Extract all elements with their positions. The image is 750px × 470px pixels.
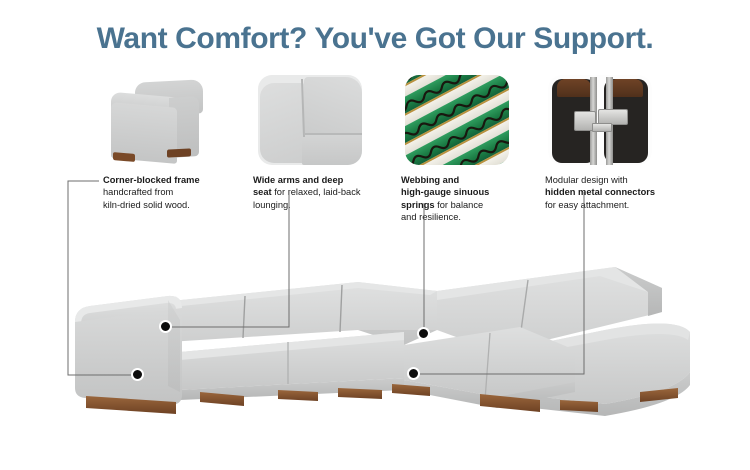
callout-dot-wide-arm[interactable] [159, 320, 172, 333]
wood-foot [560, 400, 598, 412]
callout-dot-corner-frame[interactable] [131, 368, 144, 381]
callout-dot-webbing[interactable] [417, 327, 430, 340]
product-sofa-illustration [0, 0, 750, 470]
callout-dot-connector[interactable] [407, 367, 420, 380]
sofa-left-arm [75, 296, 182, 405]
infographic-page: Want Comfort? You've Got Our Support. [0, 0, 750, 470]
